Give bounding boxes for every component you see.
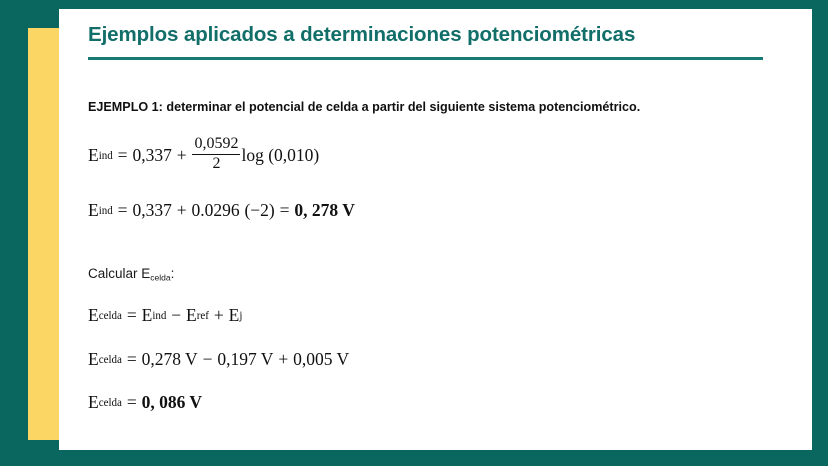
eq1-plus-operator: + bbox=[177, 147, 187, 165]
eq1-fraction-denominator: 2 bbox=[210, 156, 222, 173]
eq4-lhs-symbol: E bbox=[88, 351, 99, 369]
eq2-equals: = bbox=[118, 202, 128, 220]
eq3-term3-symbol: E bbox=[229, 307, 240, 325]
equation-4: Ecelda = 0,278 V − 0,197 V + 0,005 V bbox=[88, 351, 349, 369]
eq1-equals: = bbox=[118, 147, 128, 165]
eq1-log-term: log (0,010) bbox=[241, 147, 319, 165]
eq1-fraction-numerator: 0,0592 bbox=[192, 136, 240, 153]
eq4-minus-operator: − bbox=[203, 351, 213, 369]
eq1-first-term: 0,337 bbox=[132, 147, 171, 165]
eq2-factor: (−2) bbox=[244, 202, 274, 220]
eq2-plus-operator: + bbox=[177, 202, 187, 220]
eq3-equals: = bbox=[127, 307, 137, 325]
eq4-value-2: 0,197 V bbox=[217, 351, 273, 369]
eq3-lhs-symbol: E bbox=[88, 307, 99, 325]
equation-1: Eind = 0,337 + 0,0592 2 log (0,010) bbox=[88, 137, 319, 174]
equation-5: Ecelda = 0, 086 V bbox=[88, 394, 202, 412]
eq4-value-1: 0,278 V bbox=[142, 351, 198, 369]
eq2-coefficient: 0.0296 bbox=[191, 202, 239, 220]
equation-3: Ecelda = Eind − Eref + Ej bbox=[88, 307, 242, 325]
slide-canvas: Ejemplos aplicados a determinaciones pot… bbox=[0, 0, 828, 466]
calcular-label-text: Calcular E bbox=[88, 266, 150, 281]
title-block: Ejemplos aplicados a determinaciones pot… bbox=[88, 23, 763, 60]
eq5-lhs-symbol: E bbox=[88, 394, 99, 412]
eq3-term1-symbol: E bbox=[142, 307, 153, 325]
page-title: Ejemplos aplicados a determinaciones pot… bbox=[88, 23, 763, 48]
eq2-equals-2: = bbox=[280, 202, 290, 220]
eq2-first-term: 0,337 bbox=[132, 202, 171, 220]
calcular-label-subscript: celda bbox=[150, 272, 170, 282]
eq2-result-value: 0, 278 V bbox=[294, 202, 354, 220]
example-lead-text: EJEMPLO 1: determinar el potencial de ce… bbox=[88, 99, 640, 115]
eq4-value-3: 0,005 V bbox=[293, 351, 349, 369]
eq4-equals: = bbox=[127, 351, 137, 369]
eq1-fraction: 0,0592 2 bbox=[192, 136, 240, 173]
eq3-term2-symbol: E bbox=[186, 307, 197, 325]
decorative-yellow-bar bbox=[28, 28, 59, 440]
content-card: Ejemplos aplicados a determinaciones pot… bbox=[59, 9, 812, 450]
eq4-plus-operator: + bbox=[278, 351, 288, 369]
title-underline-rule bbox=[88, 57, 763, 60]
equation-2: Eind = 0,337 + 0.0296 (−2) = 0, 278 V bbox=[88, 202, 355, 220]
eq1-lhs-symbol: E bbox=[88, 147, 99, 165]
calcular-label-colon: : bbox=[171, 266, 175, 281]
eq5-equals: = bbox=[127, 394, 137, 412]
eq5-result-value: 0, 086 V bbox=[142, 394, 202, 412]
eq3-minus-operator: − bbox=[171, 307, 181, 325]
eq3-plus-operator: + bbox=[214, 307, 224, 325]
eq2-lhs-symbol: E bbox=[88, 202, 99, 220]
calcular-label: Calcular Ecelda: bbox=[88, 266, 174, 282]
